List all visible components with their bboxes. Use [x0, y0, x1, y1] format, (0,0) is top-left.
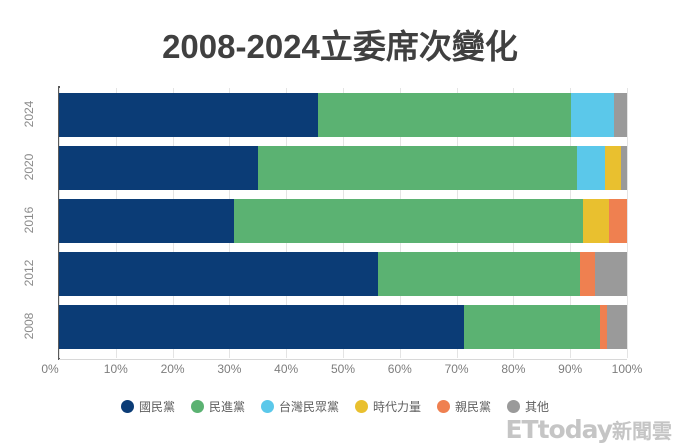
legend-label: 時代力量 [373, 398, 421, 415]
legend-item[interactable]: 國民黨 [121, 398, 175, 415]
x-axis-label: 40% [261, 362, 311, 376]
watermark-suffix: 新聞雲 [612, 419, 672, 443]
legend-item[interactable]: 台灣民眾黨 [261, 398, 339, 415]
legend-item[interactable]: 親民黨 [437, 398, 491, 415]
legend-label: 親民黨 [455, 398, 491, 415]
legend-swatch-icon [121, 400, 134, 413]
legend-label: 台灣民眾黨 [279, 398, 339, 415]
x-axis-label: 20% [148, 362, 198, 376]
legend-swatch-icon [191, 400, 204, 413]
bar-segment[interactable] [59, 199, 234, 243]
bar-row[interactable] [59, 199, 627, 243]
x-axis-label: 80% [488, 362, 538, 376]
bar-segment[interactable] [378, 252, 580, 296]
x-axis-label: 90% [545, 362, 595, 376]
y-axis-label: 2024 [22, 91, 36, 137]
bar-segment[interactable] [59, 305, 464, 349]
x-axis-line [59, 359, 627, 360]
bar-segment[interactable] [59, 93, 318, 137]
chart-title: 2008-2024立委席次變化 [0, 20, 680, 68]
x-axis-label: 30% [204, 362, 254, 376]
bar-segment[interactable] [59, 252, 378, 296]
bar-segment[interactable] [595, 252, 627, 296]
x-axis-label: 70% [432, 362, 482, 376]
bar-segment[interactable] [607, 305, 627, 349]
bar-row[interactable] [59, 252, 627, 296]
bar-row[interactable] [59, 93, 627, 137]
y-axis-label: 2012 [22, 250, 36, 296]
watermark: ETtoday新聞雲 [505, 415, 672, 444]
x-axis-label: 100% [602, 362, 652, 376]
legend-item[interactable]: 時代力量 [355, 398, 421, 415]
bar-segment[interactable] [464, 305, 600, 349]
watermark-brand: ETtoday [505, 415, 612, 444]
legend-item[interactable]: 民進黨 [191, 398, 245, 415]
legend: 國民黨民進黨台灣民眾黨時代力量親民黨其他 [0, 398, 680, 415]
x-axis-label: 0% [25, 362, 75, 376]
plot-area [59, 88, 627, 358]
x-axis-label: 60% [375, 362, 425, 376]
bar-row[interactable] [59, 305, 627, 349]
bar-segment[interactable] [258, 146, 577, 190]
bar-segment[interactable] [318, 93, 571, 137]
legend-label: 民進黨 [209, 398, 245, 415]
y-axis-label: 2020 [22, 144, 36, 190]
legend-swatch-icon [437, 400, 450, 413]
bar-segment[interactable] [583, 199, 609, 243]
legend-item[interactable]: 其他 [507, 398, 549, 415]
bar-segment[interactable] [580, 252, 595, 296]
y-axis-label: 2008 [22, 303, 36, 349]
x-axis-label: 50% [318, 362, 368, 376]
bar-segment[interactable] [621, 146, 627, 190]
bar-segment[interactable] [609, 199, 627, 243]
bar-segment[interactable] [59, 146, 258, 190]
legend-swatch-icon [355, 400, 368, 413]
bar-segment[interactable] [600, 305, 607, 349]
bar-segment[interactable] [614, 93, 627, 137]
legend-label: 其他 [525, 398, 549, 415]
bar-segment[interactable] [234, 199, 583, 243]
legend-label: 國民黨 [139, 398, 175, 415]
bar-segment[interactable] [577, 146, 605, 190]
legend-swatch-icon [261, 400, 274, 413]
y-axis-label: 2016 [22, 197, 36, 243]
gridline [627, 88, 628, 358]
bar-segment[interactable] [571, 93, 614, 137]
x-axis-label: 10% [91, 362, 141, 376]
bar-row[interactable] [59, 146, 627, 190]
chart-container: 2008-2024立委席次變化 20242020201620122008 0%1… [0, 0, 680, 448]
bar-segment[interactable] [605, 146, 621, 190]
legend-swatch-icon [507, 400, 520, 413]
